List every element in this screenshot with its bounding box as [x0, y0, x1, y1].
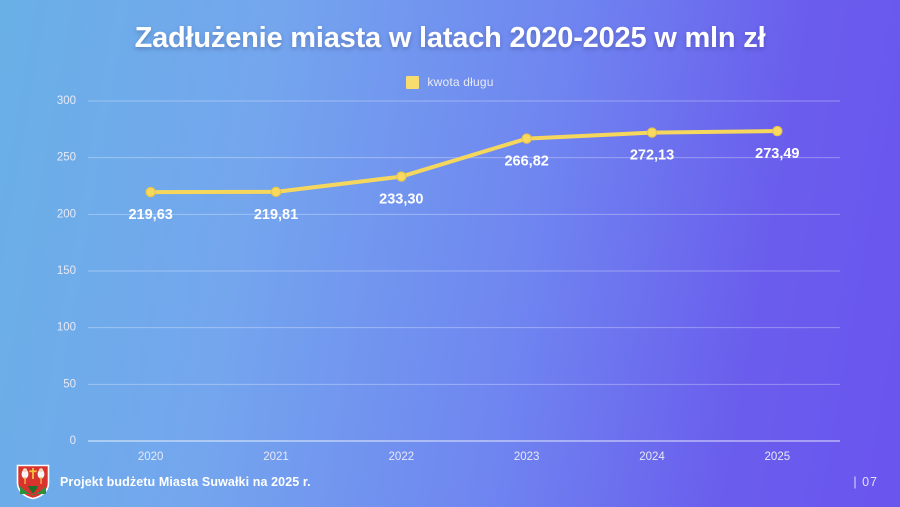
slide-footer: Projekt budżetu Miasta Suwałki na 2025 r… [0, 457, 900, 507]
y-axis-tick-label: 200 [57, 208, 76, 220]
y-axis-tick-label: 300 [57, 95, 76, 107]
y-axis-tick-label: 100 [57, 322, 76, 334]
legend-item-label: kwota długu [427, 75, 493, 89]
data-point-label: 219,81 [254, 207, 298, 223]
y-axis-tick-label: 250 [57, 152, 76, 164]
page-title: Zadłużenie miasta w latach 2020-2025 w m… [0, 22, 900, 55]
data-point-marker [397, 172, 406, 181]
data-point-label: 219,63 [128, 207, 172, 223]
data-point-marker [271, 187, 280, 196]
chart-canvas: 050100150200250300 202020212022202320242… [0, 90, 900, 455]
series-line-kwota-dlugu [151, 131, 778, 192]
chart-y-axis-labels: 050100150200250300 [57, 95, 76, 447]
data-point-label: 273,49 [755, 146, 799, 162]
suwalki-coat-of-arms-icon [16, 464, 50, 500]
y-axis-tick-label: 0 [70, 435, 76, 447]
data-point-marker [647, 128, 656, 137]
data-point-marker [773, 126, 782, 135]
chart-gridlines [88, 101, 840, 441]
y-axis-tick-label: 50 [63, 378, 76, 390]
data-point-label: 272,13 [630, 148, 674, 164]
data-point-marker [522, 134, 531, 143]
chart-legend: kwota długu [0, 75, 900, 89]
legend-swatch-icon [406, 76, 419, 89]
line-chart: 050100150200250300 202020212022202320242… [0, 90, 900, 455]
page-number: | 07 [853, 475, 878, 489]
y-axis-tick-label: 150 [57, 265, 76, 277]
data-point-marker [146, 187, 155, 196]
data-point-label: 266,82 [504, 154, 548, 170]
series-markers [146, 126, 782, 196]
footer-text: Projekt budżetu Miasta Suwałki na 2025 r… [60, 475, 311, 489]
data-point-label: 233,30 [379, 192, 423, 208]
